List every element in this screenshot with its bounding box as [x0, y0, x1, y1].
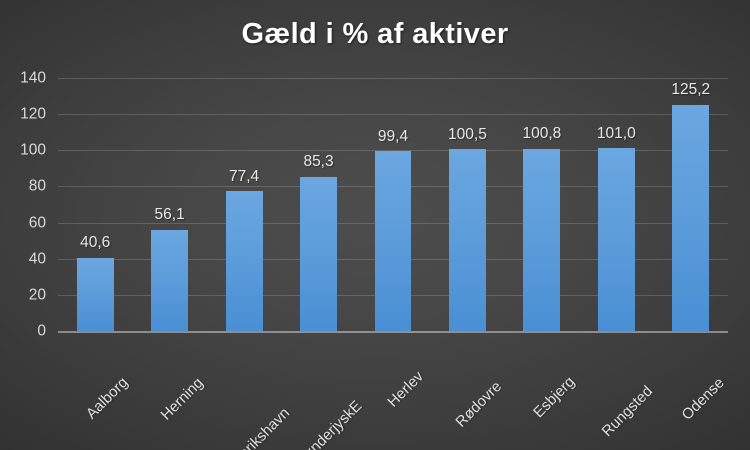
y-tick-label: 0 — [0, 323, 46, 339]
x-tick-label: Esbjerg — [531, 374, 578, 421]
bar-chart: Gæld i % af aktiver 40,656,177,485,399,4… — [0, 0, 750, 450]
bar-value-label: 77,4 — [229, 169, 259, 185]
bar-value-label: 40,6 — [80, 235, 110, 251]
chart-title: Gæld i % af aktiver — [0, 18, 750, 51]
y-tick-label: 100 — [0, 143, 46, 159]
y-tick-label: 20 — [0, 287, 46, 303]
bar-group[interactable]: 99,4 — [375, 78, 412, 331]
x-axis: AalborgHerningFrederikshavnSønderjyskEHe… — [58, 334, 728, 444]
bars-layer: 40,656,177,485,399,4100,5100,8101,0125,2 — [58, 78, 728, 331]
bar[interactable] — [375, 151, 412, 331]
x-tick-label: Odense — [679, 375, 727, 423]
bar-group[interactable]: 125,2 — [672, 78, 709, 331]
bar-group[interactable]: 85,3 — [300, 78, 337, 331]
bar[interactable] — [672, 105, 709, 331]
x-tick-label: Herning — [158, 375, 206, 423]
y-tick-label: 60 — [0, 215, 46, 231]
bar[interactable] — [523, 149, 560, 331]
bar-group[interactable]: 100,5 — [449, 78, 486, 331]
y-tick-label: 40 — [0, 251, 46, 267]
y-tick-label: 120 — [0, 106, 46, 122]
bar-group[interactable]: 40,6 — [77, 78, 114, 331]
x-tick-label: SønderjyskE — [293, 398, 364, 450]
bar-value-label: 125,2 — [671, 82, 710, 98]
bar[interactable] — [226, 191, 263, 331]
bar-value-label: 99,4 — [378, 129, 408, 145]
gridline — [58, 331, 728, 333]
bar-group[interactable]: 77,4 — [226, 78, 263, 331]
bar-group[interactable]: 56,1 — [151, 78, 188, 331]
y-tick-label: 80 — [0, 179, 46, 195]
x-tick-label: Herlev — [385, 369, 426, 410]
x-tick-label: Aalborg — [84, 375, 131, 422]
x-tick-label: Rødovre — [454, 379, 505, 430]
bar[interactable] — [300, 177, 337, 331]
plot-area: 40,656,177,485,399,4100,5100,8101,0125,2 — [58, 78, 728, 331]
bar[interactable] — [598, 148, 635, 331]
x-tick-label: Frederikshavn — [215, 405, 293, 450]
bar-value-label: 100,8 — [522, 126, 561, 142]
bar-value-label: 100,5 — [448, 127, 487, 143]
bar-value-label: 85,3 — [303, 154, 333, 170]
bar-value-label: 56,1 — [155, 207, 185, 223]
bar-group[interactable]: 100,8 — [523, 78, 560, 331]
bar-value-label: 101,0 — [597, 126, 636, 142]
bar-group[interactable]: 101,0 — [598, 78, 635, 331]
bar[interactable] — [77, 258, 114, 331]
bar[interactable] — [449, 149, 486, 331]
x-tick-label: Rungsted — [600, 383, 656, 439]
y-tick-label: 140 — [0, 70, 46, 86]
bar[interactable] — [151, 230, 188, 331]
